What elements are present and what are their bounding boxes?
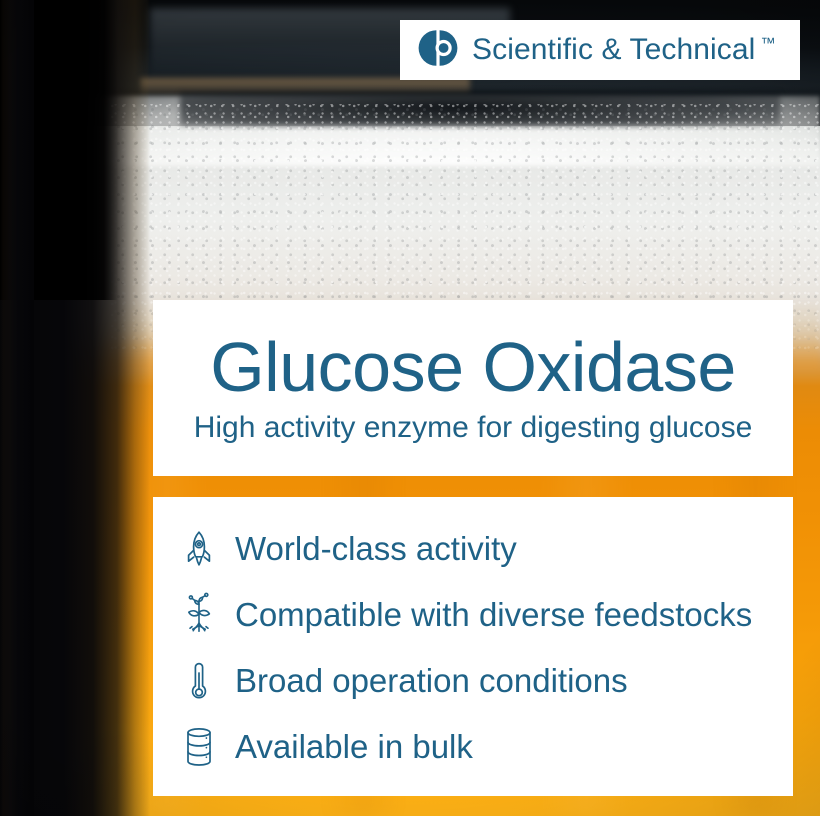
product-title-card: Glucose Oxidase High activity enzyme for… [153,300,793,476]
brand-name-block: Scientific & Technical ™ [472,35,776,65]
product-tagline: High activity enzyme for digesting gluco… [194,411,753,444]
list-item: Broad operation conditions [177,648,793,714]
page-title: Glucose Oxidase [210,332,736,403]
trademark-symbol: ™ [760,36,775,51]
feature-label: Compatible with diverse feedstocks [235,598,752,631]
feature-label: Broad operation conditions [235,664,628,697]
thermometer-icon [177,655,221,707]
list-item: Available in bulk [177,714,793,780]
rocket-icon [177,523,221,575]
plant-seedling-icon [177,589,221,641]
barrel-drum-icon [177,721,221,773]
product-banner: Scientific & Technical ™ Glucose Oxidase… [0,0,820,816]
split-circle-logo-icon [418,28,458,73]
feature-label: World-class activity [235,532,517,565]
list-item: Compatible with diverse feedstocks [177,582,793,648]
product-features-card: World-class activity [153,497,793,796]
brand-header-card: Scientific & Technical ™ [400,20,800,80]
brand-name-text: Scientific & Technical [472,35,755,65]
feature-label: Available in bulk [235,730,473,763]
list-item: World-class activity [177,516,793,582]
